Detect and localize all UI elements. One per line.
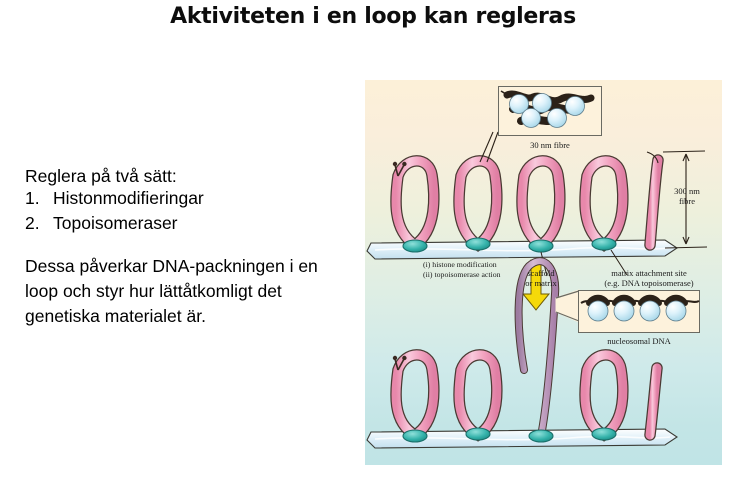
page-title: Aktiviteten i en loop kan regleras: [0, 4, 746, 29]
inset-nucleosomal-vector: [579, 291, 701, 334]
chromatin-loop-regulation-diagram: 30 nm fibre 300 nm fibre scaffold or mat…: [365, 80, 722, 465]
list-item-number: 1.: [25, 186, 53, 211]
list-item: 2. Topoisomeraser: [25, 211, 204, 236]
list-item: 1. Histonmodifieringar: [25, 186, 204, 211]
label-300nm-fibre-line1: 300 nm: [665, 186, 709, 196]
numbered-list: 1. Histonmodifieringar 2. Topoisomeraser: [25, 186, 204, 236]
list-item-label: Topoisomeraser: [53, 211, 178, 236]
label-30nm-fibre: 30 nm fibre: [498, 140, 602, 150]
label-matrix-attachment-line2: (e.g. DNA topoisomerase): [579, 278, 719, 288]
label-300nm-fibre-line2: fibre: [665, 196, 709, 206]
label-nucleosomal-dna: nucleosomal DNA: [578, 336, 700, 346]
condensed-loops-top: [396, 160, 658, 245]
inset-30nm-fibre: [498, 86, 602, 136]
inset-30nm-vector: [499, 87, 603, 137]
label-scaffold-line2: or matrix: [511, 278, 571, 288]
label-matrix-attachment-line1: matrix attachment site: [579, 268, 719, 278]
leader-line-nucleosomal: [556, 290, 579, 322]
label-scaffold-line1: scaffold: [511, 268, 571, 278]
list-item-number: 2.: [25, 211, 53, 236]
body-paragraph: Dessa påverkar DNA-packningen i en loop …: [25, 254, 325, 329]
label-topoisomerase-action: (ii) topoisomerase action: [423, 270, 501, 280]
slide-canvas: Aktiviteten i en loop kan regleras Regle…: [0, 0, 746, 482]
inset-nucleosomal-dna: [578, 290, 700, 333]
label-histone-modification: (i) histone modification: [423, 260, 497, 270]
list-item-label: Histonmodifieringar: [53, 186, 204, 211]
